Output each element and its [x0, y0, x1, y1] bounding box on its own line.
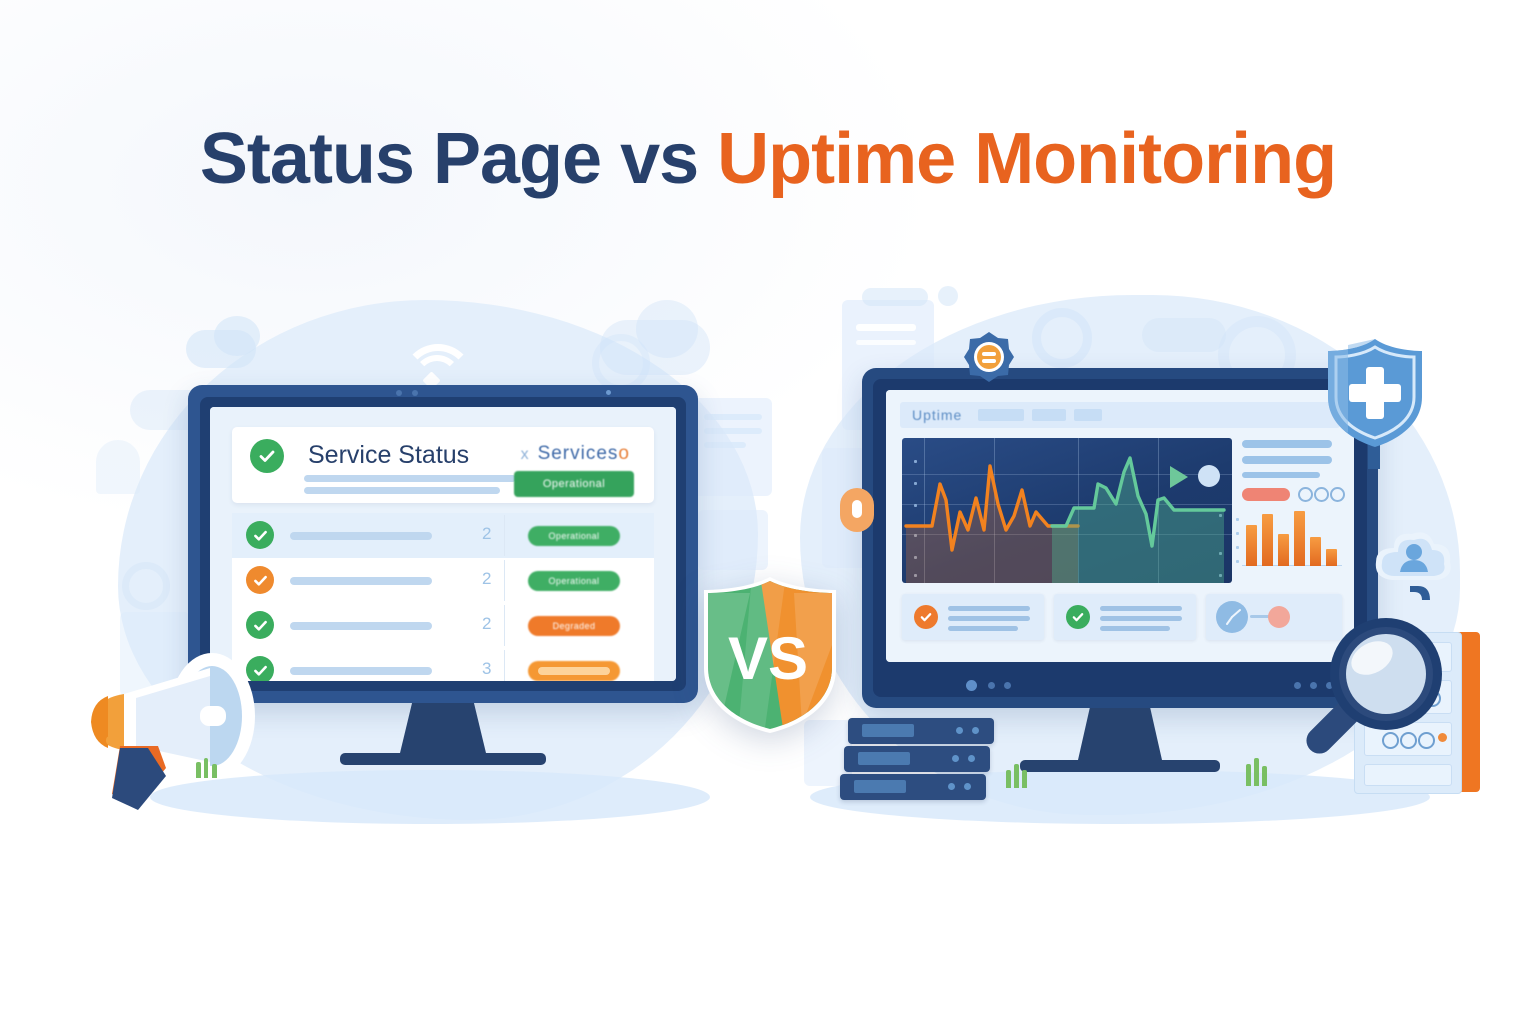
row-count: 2 — [482, 614, 491, 634]
status-badge: Operational — [528, 526, 620, 546]
status-card[interactable] — [902, 594, 1044, 640]
topbar-placeholder — [1032, 409, 1066, 421]
shield-plus-icon — [1320, 335, 1430, 470]
bar-item — [1278, 534, 1289, 566]
card-text-bar — [1100, 606, 1182, 611]
grass-decoration — [1262, 766, 1267, 786]
table-row[interactable]: 2 Operational — [232, 558, 654, 603]
status-ring-icon — [1314, 487, 1329, 502]
server-led — [956, 727, 963, 734]
status-card[interactable] — [1054, 594, 1196, 640]
bar-item — [1246, 525, 1257, 566]
server-drive-slot — [862, 724, 914, 737]
magnifier-icon — [1288, 608, 1468, 788]
server-drive-slot — [858, 752, 910, 765]
column-divider — [504, 650, 505, 681]
line-shape-decoration — [704, 414, 762, 420]
table-row[interactable]: 2 Operational — [232, 513, 654, 558]
grass-decoration — [1006, 770, 1011, 788]
camera-dot — [412, 390, 418, 396]
title-part-status-page: Status Page — [200, 119, 601, 199]
column-divider — [504, 560, 505, 601]
play-triangle-icon — [1170, 466, 1188, 488]
status-header-card: Service Status xServiceso Operational — [232, 427, 654, 503]
check-circle-icon — [1066, 605, 1090, 629]
card-text-bar — [1100, 616, 1182, 621]
row-label-bar — [290, 577, 432, 585]
server-led — [952, 755, 959, 762]
column-divider — [504, 515, 505, 556]
row-label-bar — [290, 532, 432, 540]
bar-item — [1310, 537, 1321, 566]
card-text-bar — [948, 616, 1030, 621]
line-shape-decoration — [704, 442, 746, 448]
megaphone-icon — [62, 628, 322, 828]
cloud-user-icon — [1372, 530, 1456, 606]
grass-decoration — [1246, 764, 1251, 786]
gear-icon-decoration — [592, 334, 650, 392]
grass-decoration — [1022, 770, 1027, 788]
card-text-bar — [948, 626, 1018, 631]
check-circle-icon — [250, 439, 284, 473]
operational-button[interactable]: Operational — [514, 471, 634, 497]
panel-shape-decoration — [96, 440, 140, 494]
status-ring-icon — [1298, 487, 1313, 502]
alert-badge-icon — [962, 330, 1016, 384]
line-shape-decoration — [704, 428, 762, 434]
power-led — [606, 390, 611, 395]
server-unit — [840, 774, 986, 800]
cloud-shape-decoration — [938, 286, 958, 306]
title-connector-vs: vs — [620, 119, 698, 199]
illustration-canvas: Status Page vs Uptime Monitoring — [0, 0, 1536, 1024]
response-time-chart — [902, 438, 1232, 583]
monitor-stand-neck — [1078, 708, 1162, 760]
dashboard-topbar: Uptime — [900, 402, 1340, 428]
status-badge: Degraded — [528, 616, 620, 636]
indicator-dot — [1004, 682, 1011, 689]
placeholder-bar — [304, 487, 500, 494]
lock-badge-icon — [840, 488, 874, 532]
grass-decoration — [212, 764, 217, 778]
grass-decoration — [196, 762, 201, 778]
check-circle-icon — [246, 566, 274, 594]
sidebar-text-bar — [1242, 456, 1332, 464]
card-text-bar — [1100, 626, 1170, 631]
grass-decoration — [1254, 758, 1259, 786]
line-shape-decoration — [856, 340, 916, 345]
server-drive-slot — [854, 780, 906, 793]
uptime-dashboard-screen: Uptime — [886, 390, 1354, 662]
dashboard-topbar-label: Uptime — [912, 407, 962, 423]
status-ring-icon — [1330, 487, 1345, 502]
line-shape-decoration — [856, 324, 916, 331]
brand-prefix: x — [521, 446, 530, 463]
grass-decoration — [1014, 764, 1019, 788]
bar-item — [1294, 511, 1305, 566]
gear-icon-decoration — [1032, 308, 1092, 368]
camera-dot — [396, 390, 402, 396]
grass-decoration — [204, 758, 208, 778]
server-unit — [848, 718, 994, 744]
monitor-stand-base — [1020, 760, 1220, 772]
cloud-shape-decoration — [214, 316, 260, 356]
page-title: Status Page vs Uptime Monitoring — [0, 118, 1536, 200]
status-badge: Operational — [528, 571, 620, 591]
brand-logo: xServiceso — [521, 443, 630, 465]
vs-badge-label: VS — [728, 625, 808, 692]
placeholder-bar — [304, 475, 516, 482]
server-rack-icon — [820, 718, 996, 800]
server-led — [964, 783, 971, 790]
chart-plot-area — [902, 438, 1232, 583]
vs-badge: VS — [690, 575, 850, 735]
row-count: 2 — [482, 524, 491, 544]
bar-item — [1262, 514, 1273, 566]
indicator-dot — [988, 682, 995, 689]
topbar-placeholder — [1074, 409, 1102, 421]
cloud-shape-decoration — [1142, 318, 1226, 352]
brand-name: Services — [538, 443, 619, 464]
brand-suffix: o — [618, 443, 630, 464]
cloud-shape-decoration — [862, 288, 928, 306]
gauge-icon — [1216, 601, 1248, 633]
status-page-heading: Service Status — [308, 441, 469, 470]
card-text-bar — [948, 606, 1030, 611]
power-led — [966, 680, 977, 691]
monitor-stand-base — [340, 753, 546, 765]
row-count: 2 — [482, 569, 491, 589]
server-led — [972, 727, 979, 734]
server-led — [948, 783, 955, 790]
monitor-stand-neck — [400, 703, 486, 753]
topbar-placeholder — [978, 409, 1024, 421]
gear-icon-decoration — [122, 562, 170, 610]
server-unit — [844, 746, 990, 772]
row-count: 3 — [482, 659, 491, 679]
check-circle-icon — [246, 521, 274, 549]
title-part-uptime-monitoring: Uptime Monitoring — [717, 119, 1336, 199]
status-card-row — [902, 594, 1340, 640]
server-led — [968, 755, 975, 762]
alert-chip — [1242, 488, 1290, 501]
sidebar-text-bar — [1242, 440, 1332, 448]
link-connector — [1250, 615, 1270, 618]
alert-circle-icon — [1268, 606, 1290, 628]
check-circle-icon — [914, 605, 938, 629]
panel-shape-decoration — [698, 510, 768, 570]
progress-fill — [538, 667, 610, 675]
bar-item — [1326, 549, 1337, 566]
sidebar-text-bar — [1242, 472, 1320, 478]
status-dot-indicator — [1198, 465, 1220, 487]
column-divider — [504, 605, 505, 646]
metrics-bar-chart — [1242, 508, 1342, 566]
